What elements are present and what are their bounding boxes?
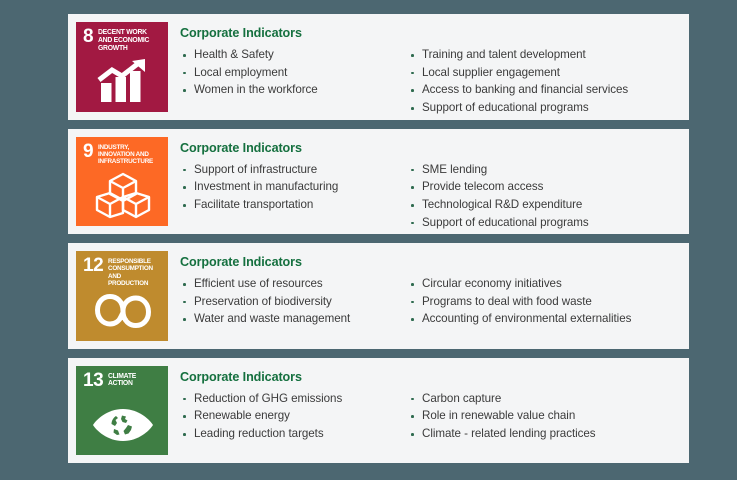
sdg-card-9: 9 Industry, innovation and infrastructur… [68,129,689,235]
indicator-column-left-13: Reduction of GHG emissions Renewable ene… [180,390,408,443]
list-item: Accounting of environmental externalitie… [408,310,679,328]
indicator-list-left-13: Reduction of GHG emissions Renewable ene… [180,390,408,443]
list-item: Leading reduction targets [180,425,408,443]
indicator-list-left-12: Efficient use of resources Preservation … [180,275,408,328]
indicator-column-right-9: SME lending Provide telecom access Techn… [408,161,679,232]
list-item: Climate - related lending practices [408,425,679,443]
sdg-tile-header-13: 13 Climate action [83,372,162,402]
indicator-list-right-8: Training and talent development Local su… [408,46,679,117]
list-item: Women in the workforce [180,81,408,99]
list-item: Technological R&D expenditure [408,196,679,214]
list-item: Provide telecom access [408,178,679,196]
list-item: Health & Safety [180,46,408,64]
card-body-12: Corporate Indicators Efficient use of re… [168,251,679,328]
list-item: SME lending [408,161,679,179]
sdg-title-9: Industry, innovation and infrastructure [98,143,159,166]
stacked-cubes-icon [83,172,162,222]
list-item: Role in renewable value chain [408,407,679,425]
list-item: Support of educational programs [408,99,679,117]
list-item: Carbon capture [408,390,679,408]
card-body-13: Corporate Indicators Reduction of GHG em… [168,366,679,443]
sdg-tile-9: 9 Industry, innovation and infrastructur… [76,137,168,227]
indicator-columns-9: Support of infrastructure Investment in … [180,161,679,232]
list-item: Preservation of biodiversity [180,293,408,311]
sdg-tile-header-12: 12 Responsible consumption and productio… [83,257,162,287]
sdg-tile-header-8: 8 Decent work and economic growth [83,28,162,58]
list-item: Facilitate transportation [180,196,408,214]
sdg-card-12: 12 Responsible consumption and productio… [68,243,689,349]
indicator-columns-8: Health & Safety Local employment Women i… [180,46,679,117]
list-item: Renewable energy [180,407,408,425]
list-item: Efficient use of resources [180,275,408,293]
sdg-number-13: 13 [83,372,103,389]
sdg-tile-8: 8 Decent work and economic growth [76,22,168,112]
list-item: Training and talent development [408,46,679,64]
sdg-title-13: Climate action [108,372,160,389]
indicator-column-left-8: Health & Safety Local employment Women i… [180,46,408,117]
indicator-column-right-8: Training and talent development Local su… [408,46,679,117]
sdg-title-8: Decent work and economic growth [98,28,159,52]
sdg-number-9: 9 [83,143,93,160]
card-body-9: Corporate Indicators Support of infrastr… [168,137,679,232]
sdg-indicator-board: 8 Decent work and economic growth Corpor… [0,0,737,480]
indicator-list-left-8: Health & Safety Local employment Women i… [180,46,408,99]
sdg-number-12: 12 [83,257,103,274]
list-item: Water and waste management [180,310,408,328]
growth-chart-arrow-icon [83,58,162,108]
sdg-card-13: 13 Climate action Corporate Indicators [68,358,689,464]
indicator-columns-13: Reduction of GHG emissions Renewable ene… [180,390,679,443]
sdg-title-12: Responsible consumption and production [108,257,160,287]
indicator-list-left-9: Support of infrastructure Investment in … [180,161,408,214]
indicator-list-right-9: SME lending Provide telecom access Techn… [408,161,679,232]
list-item: Access to banking and financial services [408,81,679,99]
sdg-number-8: 8 [83,28,93,45]
corporate-indicators-heading-8: Corporate Indicators [180,26,679,40]
indicator-column-left-9: Support of infrastructure Investment in … [180,161,408,232]
card-body-8: Corporate Indicators Health & Safety Loc… [168,22,679,117]
list-item: Support of educational programs [408,214,679,232]
list-item: Programs to deal with food waste [408,293,679,311]
list-item: Support of infrastructure [180,161,408,179]
indicator-columns-12: Efficient use of resources Preservation … [180,275,679,328]
corporate-indicators-heading-9: Corporate Indicators [180,141,679,155]
indicator-column-right-12: Circular economy initiatives Programs to… [408,275,679,328]
eye-globe-icon [83,402,162,452]
indicator-list-right-12: Circular economy initiatives Programs to… [408,275,679,328]
list-item: Reduction of GHG emissions [180,390,408,408]
sdg-tile-13: 13 Climate action [76,366,168,456]
sdg-card-8: 8 Decent work and economic growth Corpor… [68,14,689,120]
list-item: Investment in manufacturing [180,178,408,196]
list-item: Local employment [180,64,408,82]
list-item: Circular economy initiatives [408,275,679,293]
sdg-tile-header-9: 9 Industry, innovation and infrastructur… [83,143,162,173]
corporate-indicators-heading-13: Corporate Indicators [180,370,679,384]
indicator-list-right-13: Carbon capture Role in renewable value c… [408,390,679,443]
infinity-loop-arrow-icon [83,287,162,337]
list-item: Local supplier engagement [408,64,679,82]
indicator-column-right-13: Carbon capture Role in renewable value c… [408,390,679,443]
indicator-column-left-12: Efficient use of resources Preservation … [180,275,408,328]
sdg-tile-12: 12 Responsible consumption and productio… [76,251,168,341]
corporate-indicators-heading-12: Corporate Indicators [180,255,679,269]
